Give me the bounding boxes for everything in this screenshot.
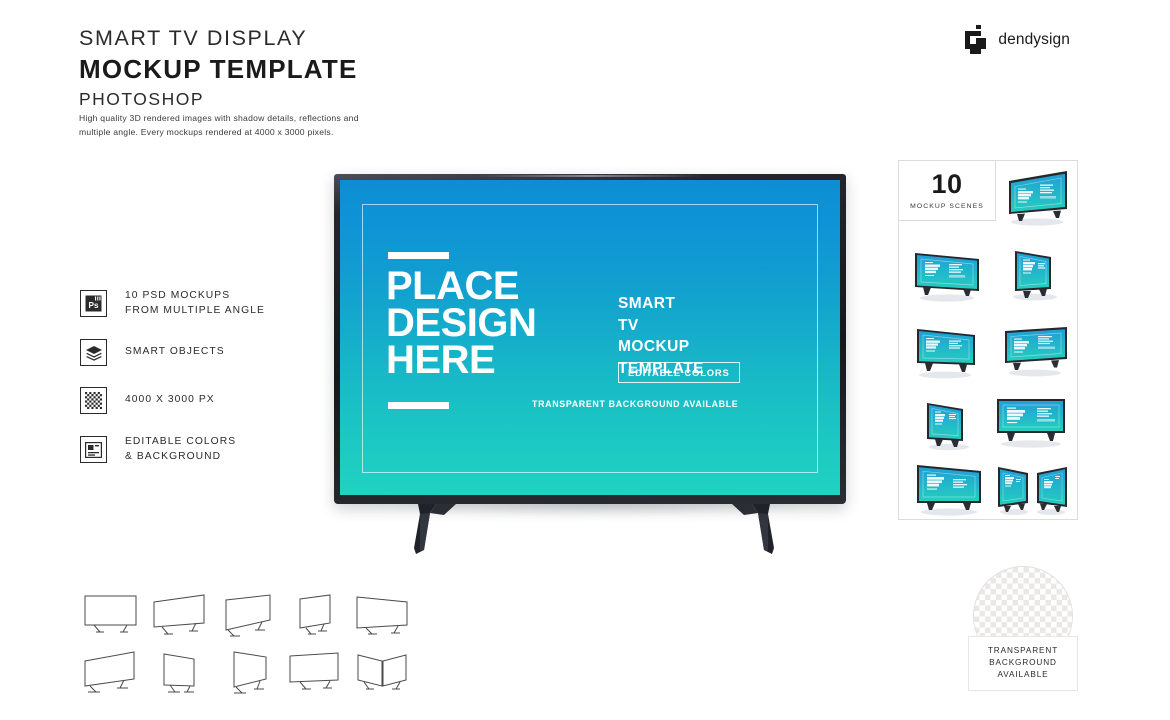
editable-colors-icon [80,436,107,463]
feature-item-editable-colors: EDITABLE COLORS & BACKGROUND [80,435,265,464]
scene-thumb-3-right-three-quarter[interactable] [993,239,1073,305]
wireframe-tilt-right[interactable] [218,592,275,640]
feature-list: Ps 10 PSD MOCKUPS FROM MULTIPLE ANGLE SM… [80,289,265,464]
photoshop-ps-icon: Ps [80,290,107,317]
mockup-scenes-panel: 10 MOCKUP SCENES [898,160,1078,520]
headline-rule-top [388,252,449,259]
main-tv-mockup: PLACE DESIGN HERE SMART TV MOCKUP TEMPLA… [330,170,855,555]
pixel-s-logo-icon [964,25,987,55]
feature-item-smart-objects: SMART OBJECTS [80,339,265,366]
wireframe-row-2 [82,649,402,697]
wireframe-pair[interactable] [354,649,411,697]
title-line-3: PHOTOSHOP [79,89,499,110]
feature-label: SMART OBJECTS [125,345,225,360]
tv-screen: PLACE DESIGN HERE SMART TV MOCKUP TEMPLA… [340,180,840,495]
scene-thumb-6-left-profile[interactable] [913,393,985,455]
tv-top-glint [477,175,702,177]
scene-thumb-1-angled-right[interactable] [995,167,1075,229]
scene-thumb-4-tilted-left[interactable] [905,321,985,383]
wireframe-row-1 [82,592,402,640]
brand-logo: dendysign [964,25,1070,55]
scenes-caption: MOCKUP SCENES [910,203,984,210]
tv-bezel: PLACE DESIGN HERE SMART TV MOCKUP TEMPLA… [334,174,846,504]
title-line-2: MOCKUP TEMPLATE [79,54,499,86]
checkerboard-pixels-icon [80,387,107,414]
scene-thumb-8-front-angled[interactable] [907,457,991,519]
wireframe-thumbnail-grid [82,592,402,706]
wireframe-side-left[interactable] [286,592,343,640]
wireframe-tilt-left[interactable] [150,592,207,640]
wireframe-slight-tilt[interactable] [286,649,343,697]
headline-rule-bottom [388,402,449,409]
svg-text:Ps: Ps [88,301,98,310]
smart-objects-layers-icon [80,339,107,366]
brand-name: dendysign [998,31,1070,49]
tv-leg-left [400,504,462,556]
description-text: High quality 3D rendered images with sha… [79,112,379,140]
wireframe-angle-low[interactable] [82,649,139,697]
wireframe-side-right[interactable] [150,649,207,697]
scene-thumb-5-tilted-right[interactable] [991,319,1075,381]
scene-thumb-10-pair-right[interactable] [1031,461,1071,519]
page-title-block: SMART TV DISPLAY MOCKUP TEMPLATE PHOTOSH… [79,26,499,110]
editable-colors-badge: EDITABLE COLORS [618,362,740,383]
tv-leg-right [726,504,788,556]
feature-item-psd-mockups: Ps 10 PSD MOCKUPS FROM MULTIPLE ANGLE [80,289,265,318]
scene-thumb-2-left-three-quarter[interactable] [907,243,987,305]
scene-thumb-7-front-wide[interactable] [987,389,1073,451]
screen-headline: PLACE DESIGN HERE [386,268,536,380]
scenes-count: 10 [931,171,962,198]
transparent-badge-label: TRANSPARENT BACKGROUND AVAILABLE [968,636,1078,691]
feature-label: EDITABLE COLORS & BACKGROUND [125,435,236,464]
feature-label: 10 PSD MOCKUPS FROM MULTIPLE ANGLE [125,289,265,318]
wireframe-perspective[interactable] [218,649,275,697]
wireframe-front[interactable] [82,592,139,640]
transparent-background-note: TRANSPARENT BACKGROUND AVAILABLE [532,399,738,409]
transparent-background-badge: TRANSPARENT BACKGROUND AVAILABLE [968,566,1078,691]
wireframe-wide-angle[interactable] [354,592,411,640]
title-line-1: SMART TV DISPLAY [79,26,499,51]
scenes-count-box: 10 MOCKUP SCENES [899,161,996,221]
feature-label: 4000 X 3000 PX [125,393,215,408]
scene-thumb-9-pair-left[interactable] [994,461,1034,519]
feature-item-resolution: 4000 X 3000 PX [80,387,265,414]
